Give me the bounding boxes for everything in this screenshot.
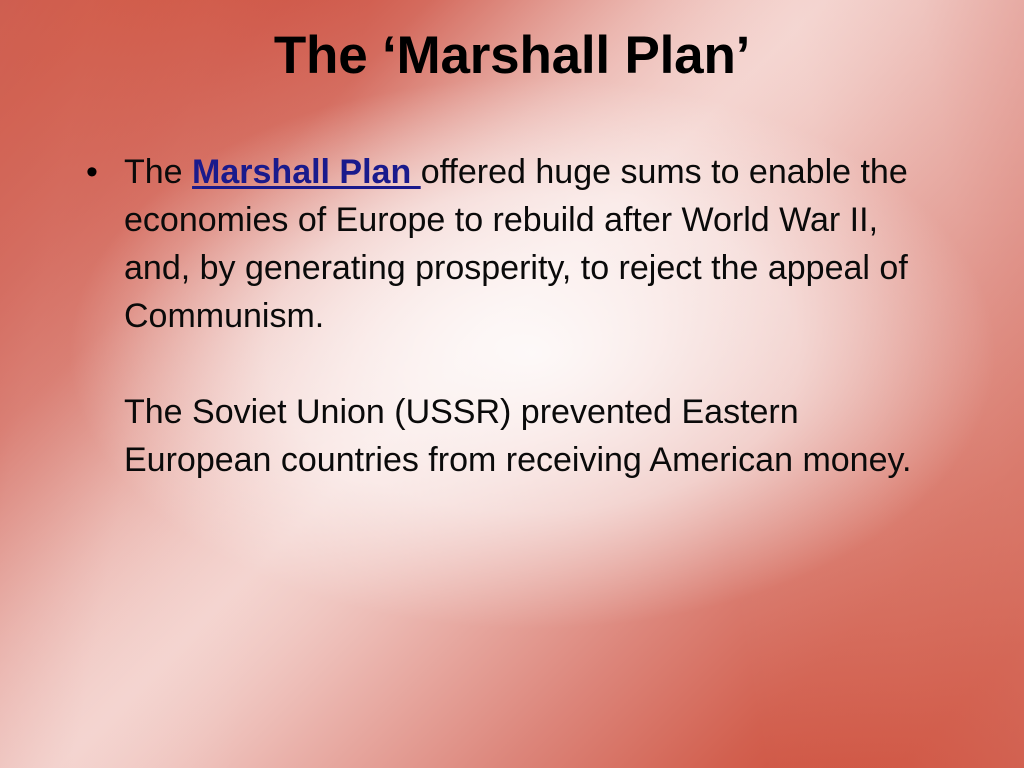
- paragraph-one: The Marshall Plan offered huge sums to e…: [124, 148, 924, 340]
- bullet-list-item: • The Marshall Plan offered huge sums to…: [72, 148, 952, 340]
- paragraph-two: The Soviet Union (USSR) prevented Easter…: [124, 388, 924, 484]
- slide-body: • The Marshall Plan offered huge sums to…: [72, 148, 952, 484]
- presentation-slide: The ‘Marshall Plan’ • The Marshall Plan …: [0, 0, 1024, 768]
- bullet-point-icon: •: [72, 148, 124, 196]
- paragraph-one-lead: The: [124, 153, 192, 191]
- bullet-item-text: The Marshall Plan offered huge sums to e…: [124, 148, 924, 340]
- slide-title: The ‘Marshall Plan’: [0, 26, 1024, 87]
- paragraph-gap: [72, 340, 952, 388]
- slide-content: The ‘Marshall Plan’ • The Marshall Plan …: [0, 0, 1024, 768]
- marshall-plan-hyperlink[interactable]: Marshall Plan: [192, 153, 421, 191]
